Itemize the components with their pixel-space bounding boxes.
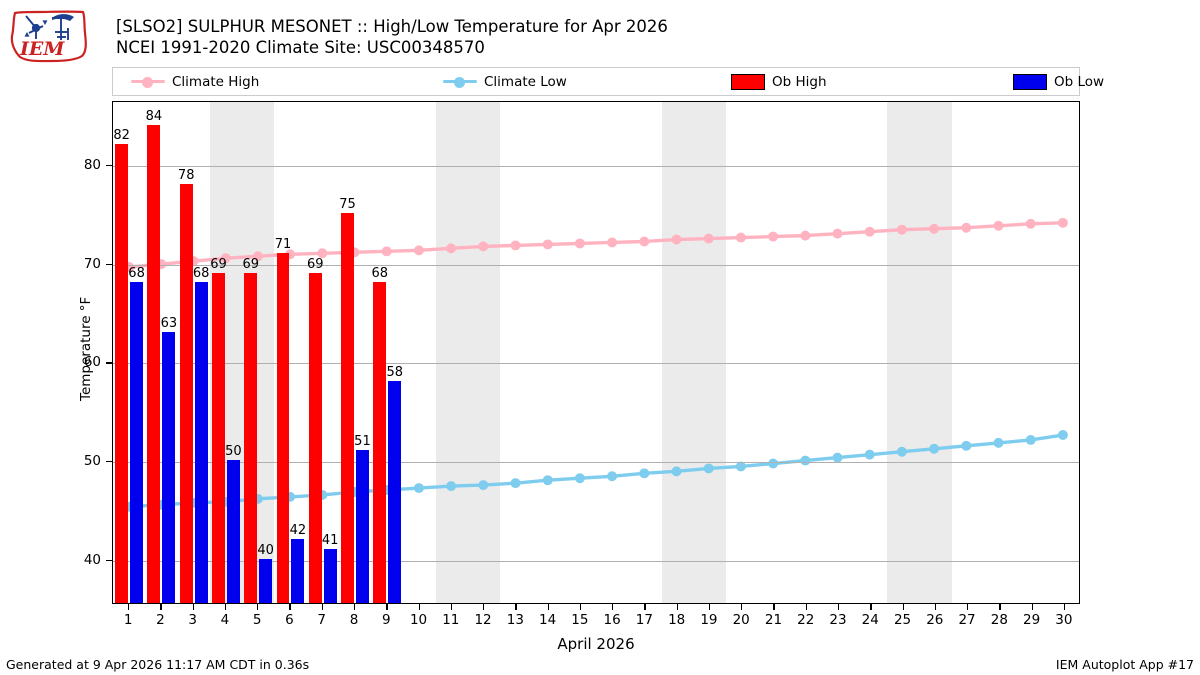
x-axis-tick-mark bbox=[1032, 604, 1033, 610]
x-axis-tick-mark bbox=[257, 604, 258, 610]
y-axis-tick-mark bbox=[106, 264, 112, 265]
gridline bbox=[113, 363, 1079, 364]
x-axis-tick-label: 15 bbox=[571, 612, 588, 628]
y-axis-tick-mark bbox=[106, 560, 112, 561]
x-axis-tick-mark bbox=[515, 604, 516, 610]
x-axis-tick-label: 27 bbox=[958, 612, 975, 628]
x-axis-tick-mark bbox=[1064, 604, 1065, 610]
climate-low-marker bbox=[478, 480, 488, 490]
ob-low-bar bbox=[227, 460, 240, 603]
climate-low-marker bbox=[1026, 435, 1036, 445]
footer-app-text: IEM Autoplot App #17 bbox=[1056, 657, 1194, 672]
bar-value-label: 82 bbox=[113, 128, 130, 143]
bar-value-label: 68 bbox=[372, 266, 389, 281]
x-axis-tick-mark bbox=[903, 604, 904, 610]
x-axis-tick-label: 1 bbox=[124, 612, 133, 628]
ob-high-bar bbox=[309, 273, 322, 603]
bar-value-label: 84 bbox=[146, 109, 163, 124]
x-axis-tick-mark bbox=[322, 604, 323, 610]
legend-item-ob-high[interactable]: Ob High bbox=[731, 68, 827, 95]
x-axis-tick-label: 9 bbox=[382, 612, 391, 628]
x-axis-tick-mark bbox=[838, 604, 839, 610]
bar-value-label: 78 bbox=[178, 168, 195, 183]
x-axis-tick-mark bbox=[225, 604, 226, 610]
bar-value-label: 71 bbox=[275, 237, 292, 252]
x-axis-tick-label: 2 bbox=[156, 612, 165, 628]
climate-series-layer bbox=[113, 102, 1079, 603]
y-axis-tick-mark bbox=[106, 165, 112, 166]
climate-low-marker bbox=[511, 478, 521, 488]
y-axis-tick-label: 80 bbox=[84, 157, 101, 173]
ob-low-bar bbox=[324, 549, 337, 603]
legend-label: Ob Low bbox=[1054, 74, 1104, 90]
climate-high-marker bbox=[929, 224, 939, 234]
x-axis-tick-label: 18 bbox=[668, 612, 685, 628]
bar-value-label: 75 bbox=[339, 197, 356, 212]
climate-high-marker bbox=[382, 246, 392, 256]
ob-low-bar bbox=[259, 559, 272, 603]
climate-low-marker bbox=[607, 471, 617, 481]
climate-high-marker bbox=[704, 234, 714, 244]
climate-low-marker bbox=[768, 459, 778, 469]
x-axis-tick-mark bbox=[483, 604, 484, 610]
ob-low-bar bbox=[388, 381, 401, 603]
x-axis-tick-mark bbox=[870, 604, 871, 610]
x-axis-tick-mark bbox=[612, 604, 613, 610]
climate-low-line bbox=[129, 435, 1063, 507]
climate-high-marker bbox=[543, 239, 553, 249]
bar-value-label: 68 bbox=[193, 266, 210, 281]
x-axis-tick-mark bbox=[354, 604, 355, 610]
bar-value-label: 69 bbox=[307, 257, 324, 272]
x-axis-tick-label: 14 bbox=[539, 612, 556, 628]
ob-high-bar bbox=[373, 282, 386, 603]
bar-value-label: 69 bbox=[242, 257, 259, 272]
climate-high-marker bbox=[833, 229, 843, 239]
x-axis-tick-label: 26 bbox=[926, 612, 943, 628]
x-axis-tick-label: 28 bbox=[991, 612, 1008, 628]
logo-text: IEM bbox=[19, 38, 65, 60]
x-axis-tick-label: 22 bbox=[797, 612, 814, 628]
legend-swatch-icon bbox=[731, 74, 765, 90]
legend-swatch-icon bbox=[1013, 74, 1047, 90]
x-axis-tick-mark bbox=[160, 604, 161, 610]
gridline bbox=[113, 462, 1079, 463]
x-axis-tick-mark bbox=[193, 604, 194, 610]
x-axis-tick-mark bbox=[419, 604, 420, 610]
ob-high-bar bbox=[277, 253, 290, 603]
legend-line-marker-icon bbox=[443, 75, 477, 89]
y-axis-tick-mark bbox=[106, 461, 112, 462]
x-axis-tick-mark bbox=[935, 604, 936, 610]
climate-low-marker bbox=[897, 447, 907, 457]
climate-high-marker bbox=[897, 225, 907, 235]
climate-high-marker bbox=[607, 237, 617, 247]
ob-high-bar bbox=[212, 273, 225, 603]
climate-high-marker bbox=[1026, 219, 1036, 229]
x-axis-tick-mark bbox=[677, 604, 678, 610]
x-axis-tick-label: 7 bbox=[317, 612, 326, 628]
climate-low-marker bbox=[994, 438, 1004, 448]
climate-low-marker bbox=[865, 450, 875, 460]
climate-high-marker bbox=[639, 237, 649, 247]
x-axis-tick-label: 13 bbox=[507, 612, 524, 628]
ob-high-bar bbox=[341, 213, 354, 603]
x-axis-tick-label: 6 bbox=[285, 612, 294, 628]
x-axis-tick-label: 11 bbox=[442, 612, 459, 628]
x-axis-tick-mark bbox=[289, 604, 290, 610]
ob-high-bar bbox=[115, 144, 128, 603]
x-axis-tick-label: 25 bbox=[894, 612, 911, 628]
climate-high-marker bbox=[736, 233, 746, 243]
x-axis-tick-label: 10 bbox=[410, 612, 427, 628]
x-axis-tick-mark bbox=[386, 604, 387, 610]
climate-low-marker bbox=[800, 456, 810, 466]
climate-low-marker bbox=[704, 463, 714, 473]
x-axis-tick-label: 16 bbox=[604, 612, 621, 628]
bar-value-label: 41 bbox=[322, 533, 339, 548]
y-axis-tick-label: 50 bbox=[84, 453, 101, 469]
climate-high-marker bbox=[575, 238, 585, 248]
x-axis-tick-mark bbox=[967, 604, 968, 610]
page-title: [SLSO2] SULPHUR MESONET :: High/Low Temp… bbox=[116, 16, 1016, 37]
x-axis-tick-label: 4 bbox=[221, 612, 230, 628]
climate-high-marker bbox=[478, 241, 488, 251]
legend-item-climate-high[interactable]: Climate High bbox=[131, 68, 259, 95]
page-subtitle: NCEI 1991-2020 Climate Site: USC00348570 bbox=[116, 37, 1016, 58]
bar-value-label: 68 bbox=[128, 266, 145, 281]
x-axis-tick-mark bbox=[806, 604, 807, 610]
climate-high-line bbox=[129, 223, 1063, 267]
y-axis-tick-label: 40 bbox=[84, 552, 101, 568]
climate-high-marker bbox=[414, 245, 424, 255]
ob-high-bar bbox=[244, 273, 257, 603]
x-axis-tick-label: 19 bbox=[700, 612, 717, 628]
ob-high-bar bbox=[180, 184, 193, 603]
x-axis-tick-label: 29 bbox=[1023, 612, 1040, 628]
bar-value-label: 63 bbox=[161, 316, 178, 331]
bar-value-label: 69 bbox=[210, 257, 227, 272]
x-axis-tick-mark bbox=[580, 604, 581, 610]
x-axis-tick-mark bbox=[548, 604, 549, 610]
climate-low-marker bbox=[929, 444, 939, 454]
climate-high-marker bbox=[994, 221, 1004, 231]
x-axis-tick-mark bbox=[773, 604, 774, 610]
climate-high-marker bbox=[865, 227, 875, 237]
x-axis-tick-label: 17 bbox=[636, 612, 653, 628]
gridline bbox=[113, 166, 1079, 167]
ob-high-bar bbox=[147, 125, 160, 603]
climate-high-marker bbox=[1058, 218, 1068, 228]
x-axis-tick-mark bbox=[644, 604, 645, 610]
y-axis-title: Temperature °F bbox=[78, 296, 94, 400]
climate-low-marker bbox=[1058, 430, 1068, 440]
climate-low-marker bbox=[961, 441, 971, 451]
legend-label: Ob High bbox=[772, 74, 827, 90]
ob-low-bar bbox=[291, 539, 304, 603]
iem-logo[interactable]: IEM bbox=[6, 6, 94, 66]
x-axis-tick-label: 8 bbox=[350, 612, 359, 628]
x-axis-tick-label: 30 bbox=[1055, 612, 1072, 628]
climate-high-marker bbox=[672, 235, 682, 245]
climate-low-marker bbox=[639, 468, 649, 478]
climate-low-marker bbox=[575, 473, 585, 483]
x-axis-tick-label: 20 bbox=[733, 612, 750, 628]
x-axis-tick-label: 23 bbox=[829, 612, 846, 628]
x-axis-tick-label: 5 bbox=[253, 612, 262, 628]
climate-high-marker bbox=[961, 223, 971, 233]
climate-low-marker bbox=[414, 483, 424, 493]
footer-generated-text: Generated at 9 Apr 2026 11:17 AM CDT in … bbox=[6, 657, 309, 672]
bar-value-label: 50 bbox=[225, 444, 242, 459]
x-axis-tick-mark bbox=[709, 604, 710, 610]
y-axis-tick-mark bbox=[106, 362, 112, 363]
legend-label: Climate High bbox=[172, 74, 259, 90]
bar-value-label: 58 bbox=[386, 365, 403, 380]
legend-item-ob-low[interactable]: Ob Low bbox=[1013, 68, 1104, 95]
chart-plot-area: 828478696971697568686368504042415158 bbox=[112, 101, 1080, 604]
climate-high-marker bbox=[768, 232, 778, 242]
x-axis-tick-label: 12 bbox=[474, 612, 491, 628]
ob-low-bar bbox=[130, 282, 143, 603]
gridline bbox=[113, 561, 1079, 562]
chart-title-block: [SLSO2] SULPHUR MESONET :: High/Low Temp… bbox=[116, 16, 1016, 58]
climate-low-marker bbox=[446, 481, 456, 491]
x-axis-tick-label: 21 bbox=[765, 612, 782, 628]
legend-label: Climate Low bbox=[484, 74, 567, 90]
ob-low-bar bbox=[162, 332, 175, 603]
x-axis-tick-mark bbox=[999, 604, 1000, 610]
bar-value-label: 42 bbox=[290, 523, 307, 538]
x-axis-tick-mark bbox=[451, 604, 452, 610]
ob-low-bar bbox=[195, 282, 208, 603]
climate-high-marker bbox=[446, 243, 456, 253]
ob-low-bar bbox=[356, 450, 369, 603]
x-axis-title: April 2026 bbox=[557, 635, 634, 653]
legend-item-climate-low[interactable]: Climate Low bbox=[443, 68, 567, 95]
x-axis-tick-label: 3 bbox=[188, 612, 197, 628]
climate-high-marker bbox=[800, 231, 810, 241]
bar-value-label: 40 bbox=[257, 543, 274, 558]
climate-high-marker bbox=[511, 240, 521, 250]
bar-value-label: 51 bbox=[354, 434, 371, 449]
x-axis-tick-mark bbox=[128, 604, 129, 610]
climate-low-marker bbox=[672, 466, 682, 476]
y-axis-tick-label: 70 bbox=[84, 256, 101, 272]
x-axis-tick-mark bbox=[741, 604, 742, 610]
legend-line-marker-icon bbox=[131, 75, 165, 89]
climate-low-marker bbox=[543, 475, 553, 485]
chart-legend: Climate HighClimate LowOb HighOb Low bbox=[112, 67, 1080, 96]
x-axis-tick-label: 24 bbox=[862, 612, 879, 628]
